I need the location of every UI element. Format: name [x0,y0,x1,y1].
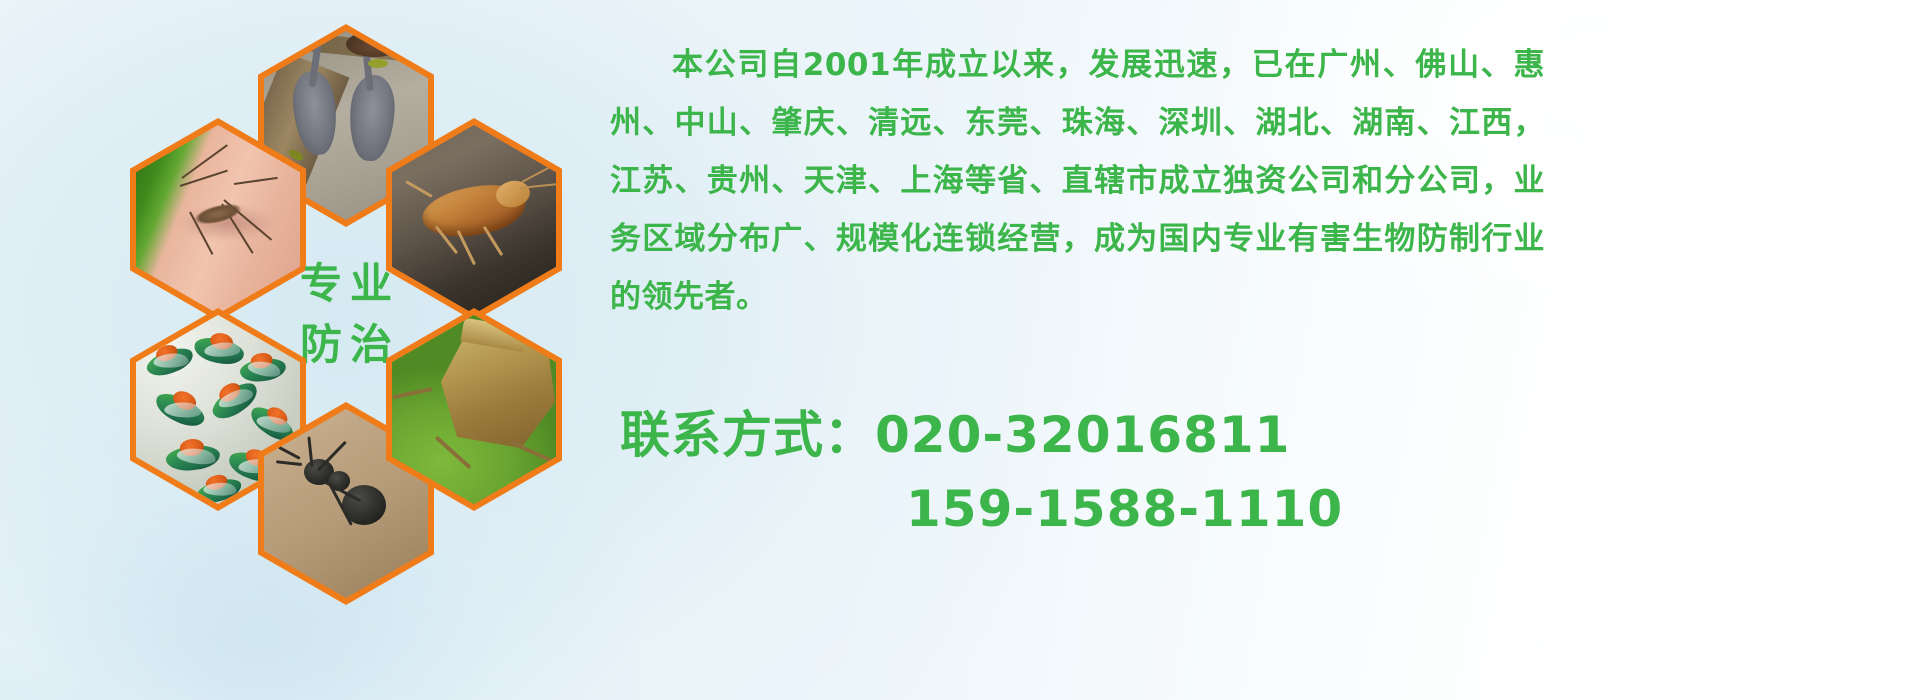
stink-bug-photo-icon [392,315,556,504]
contact-info-block: 联系方式：020-32016811 159-1588-1110 [620,398,1620,546]
center-label-line-2: 防治 [292,315,400,376]
contact-phone-landline-line[interactable]: 联系方式：020-32016811 [620,398,1620,472]
promotional-banner: 专业 防治 [0,0,1920,700]
contact-phone-mobile-line[interactable]: 159-1588-1110 [620,472,1620,546]
banner-text-content: 本公司自2001年成立以来，发展迅速，已在广州、佛山、惠州、中山、肇庆、清远、东… [600,0,1920,700]
honeycomb-photo-collage: 专业 防治 [96,8,596,568]
company-intro-paragraph: 本公司自2001年成立以来，发展迅速，已在广州、佛山、惠州、中山、肇庆、清远、东… [610,36,1545,326]
center-label-line-1: 专业 [292,254,400,315]
